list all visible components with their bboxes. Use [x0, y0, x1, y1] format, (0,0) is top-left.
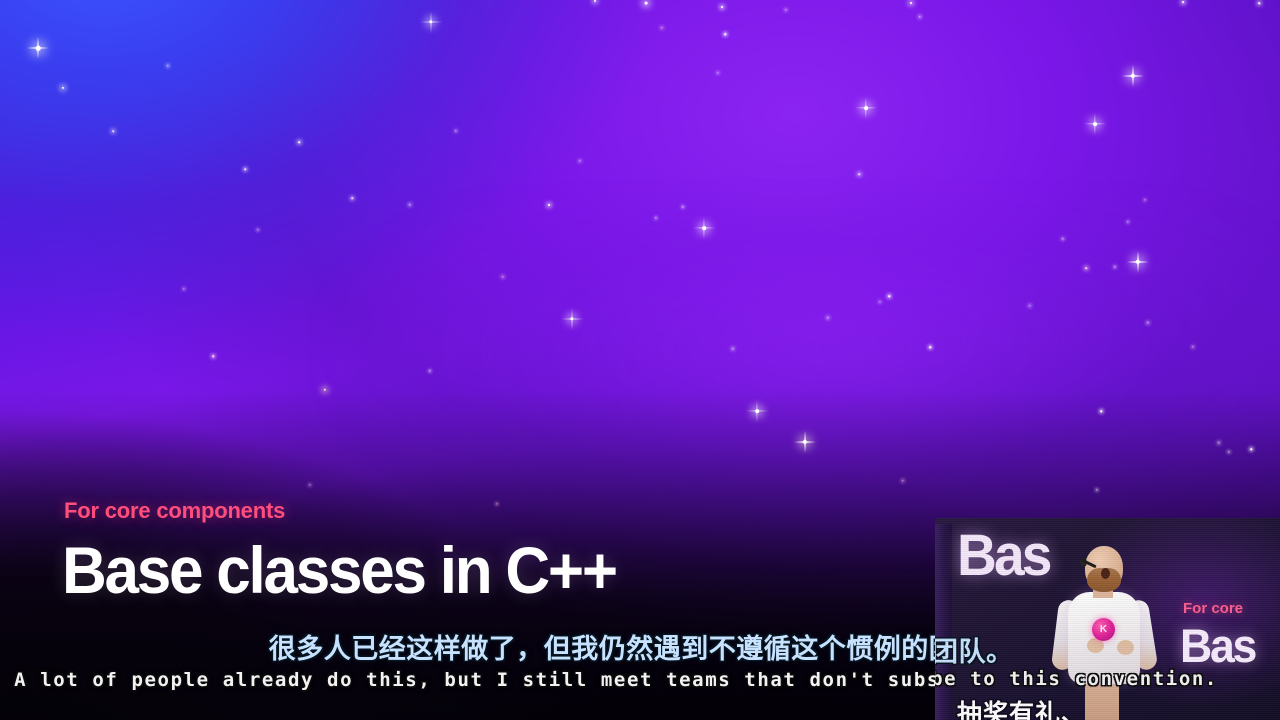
star-icon — [1250, 448, 1252, 450]
star-icon — [645, 2, 648, 5]
star-icon — [548, 204, 550, 206]
star-icon — [888, 295, 890, 297]
picture-in-picture-speaker-view[interactable]: Bas For core Bas K 团队。 ribe to this conv… — [935, 518, 1280, 720]
star-icon — [594, 0, 596, 2]
star-icon — [864, 106, 868, 110]
pip-scanline-overlay — [935, 518, 1280, 720]
slide-title: Base classes in C++ — [62, 536, 616, 605]
star-icon — [721, 6, 723, 8]
star-icon — [351, 197, 353, 199]
video-frame: For core components Base classes in C++ … — [0, 0, 1280, 720]
star-icon — [755, 409, 759, 413]
slide-kicker: For core components — [64, 498, 285, 524]
star-icon — [702, 226, 706, 230]
star-icon — [910, 2, 912, 4]
star-icon — [1085, 267, 1087, 269]
star-icon — [724, 33, 726, 35]
star-icon — [112, 130, 114, 132]
star-icon — [1258, 2, 1260, 4]
star-icon — [1182, 1, 1184, 3]
star-icon — [1093, 122, 1097, 126]
star-icon — [298, 141, 300, 143]
star-icon — [858, 173, 860, 175]
star-icon — [244, 168, 246, 170]
star-icon — [929, 346, 931, 348]
star-icon — [212, 355, 214, 357]
star-icon — [36, 46, 41, 51]
star-icon — [1100, 410, 1102, 412]
